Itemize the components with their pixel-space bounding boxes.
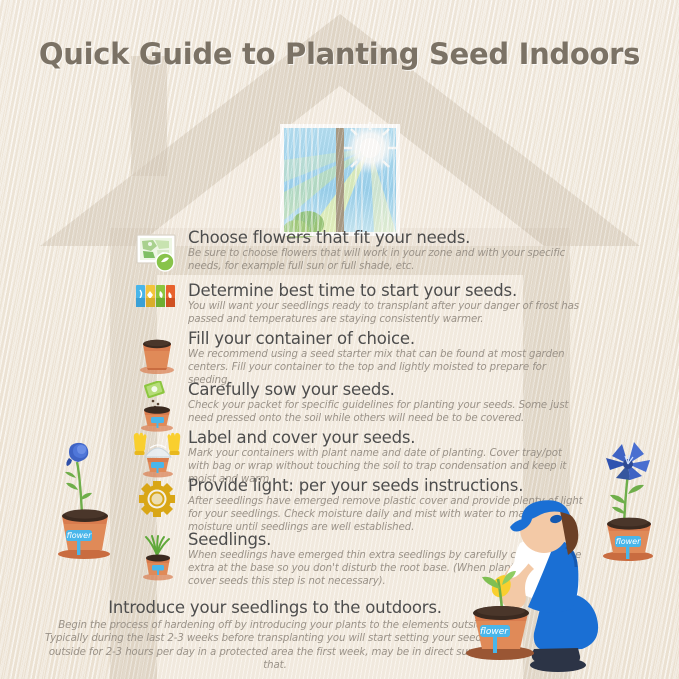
step-heading: Carefully sow your seeds.	[188, 381, 583, 399]
right-glove	[168, 433, 181, 455]
seed-packet-sowing-icon	[133, 381, 185, 433]
step-text: Carefully sow your seeds. Check your pac…	[188, 381, 583, 426]
step-heading: Label and cover your seeds.	[188, 429, 583, 447]
pot-label-text: flower	[67, 531, 93, 540]
filled-pot-icon	[133, 330, 185, 382]
step-heading: Determine best time to start your seeds.	[188, 282, 583, 300]
step-text: Choose flowers that fit your needs. Be s…	[188, 229, 583, 274]
left-glove	[134, 433, 147, 455]
step-item: Determine best time to start your seeds.…	[133, 282, 583, 329]
step-item: Fill your container of choice. We recomm…	[133, 330, 583, 380]
seedling-pot-icon	[133, 531, 185, 583]
pot-label-text: flower	[480, 627, 509, 637]
footer-section: Introduce your seedlings to the outdoors…	[40, 598, 510, 672]
step-item: Choose flowers that fit your needs. Be s…	[133, 229, 583, 281]
gardener-illustration: flower	[448, 497, 638, 679]
step-text: Determine best time to start your seeds.…	[188, 282, 583, 327]
step-description: You will want your seedlings ready to tr…	[188, 301, 583, 327]
step-description: Be sure to choose flowers that will work…	[188, 248, 583, 274]
left-flower-pot-illustration: flower	[42, 418, 128, 568]
footer-description: Begin the process of hardening off by in…	[40, 619, 510, 672]
step-heading: Choose flowers that fit your needs.	[188, 229, 583, 247]
step-description: Check your packet for specific guideline…	[188, 400, 583, 426]
window-illustration	[278, 120, 402, 238]
step-heading: Provide light: per your seeds instructio…	[188, 477, 583, 495]
footer-heading: Introduce your seedlings to the outdoors…	[40, 598, 510, 617]
step-heading: Fill your container of choice.	[188, 330, 583, 348]
four-seasons-cards-icon	[133, 282, 185, 334]
step-item: Label and cover your seeds. Mark your co…	[133, 429, 583, 476]
infographic-poster: Quick Guide to Planting Seed Indoors	[0, 0, 679, 679]
gloves-covering-pot-icon	[133, 429, 185, 481]
sun-light-icon	[133, 477, 185, 529]
page-title: Quick Guide to Planting Seed Indoors	[0, 37, 679, 71]
step-item: Carefully sow your seeds. Check your pac…	[133, 381, 583, 428]
zone-map-icon	[133, 229, 185, 281]
